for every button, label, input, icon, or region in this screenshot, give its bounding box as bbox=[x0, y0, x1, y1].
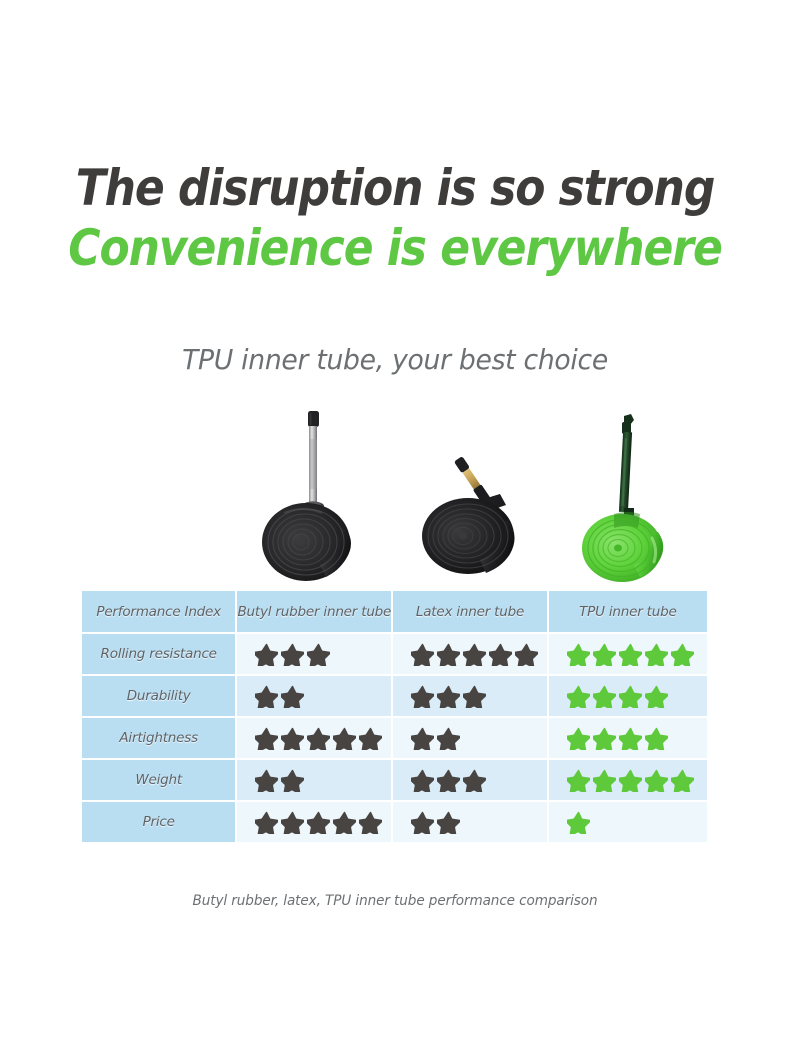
rating-cell-tpu bbox=[549, 676, 707, 718]
row-label: Price bbox=[82, 802, 237, 842]
headline-line-2: Convenience is everywhere bbox=[47, 218, 742, 278]
performance-comparison-table: Performance Index Butyl rubber inner tub… bbox=[82, 591, 707, 842]
rating-cell-tpu bbox=[549, 802, 707, 842]
rating-cell-latex bbox=[393, 676, 548, 718]
star-rating bbox=[567, 676, 707, 716]
page-subtitle: TPU inner tube, your best choice bbox=[20, 343, 771, 376]
page-title: The disruption is so strong Convenience … bbox=[47, 158, 742, 278]
star-rating bbox=[411, 634, 546, 674]
headline-line-1: The disruption is so strong bbox=[47, 158, 742, 218]
star-rating bbox=[255, 802, 391, 842]
rating-cell-butyl bbox=[237, 802, 393, 842]
rating-cell-tpu bbox=[549, 718, 707, 760]
table-row: Weight bbox=[82, 760, 707, 802]
row-label: Airtightness bbox=[82, 718, 237, 760]
star-rating bbox=[567, 634, 707, 674]
star-rating bbox=[567, 802, 707, 842]
star-rating bbox=[567, 760, 707, 800]
poster-page: The disruption is so strong Convenience … bbox=[0, 0, 790, 1046]
table-body: Rolling resistanceDurabilityAirtightness… bbox=[82, 634, 707, 842]
rating-cell-latex bbox=[393, 760, 548, 802]
rating-cell-butyl bbox=[237, 676, 393, 718]
butyl-rubber-inner-tube-photo bbox=[254, 409, 374, 588]
column-header-tpu: TPU inner tube bbox=[549, 591, 707, 634]
star-rating bbox=[411, 802, 546, 842]
rating-cell-butyl bbox=[237, 718, 393, 760]
star-rating bbox=[411, 760, 546, 800]
rating-cell-butyl bbox=[237, 634, 393, 676]
row-label: Weight bbox=[82, 760, 237, 802]
rating-cell-tpu bbox=[549, 760, 707, 802]
column-header-performance-index: Performance Index bbox=[82, 591, 237, 634]
table-row: Airtightness bbox=[82, 718, 707, 760]
column-header-latex: Latex inner tube bbox=[393, 591, 548, 634]
column-header-butyl-rubber: Butyl rubber inner tube bbox=[237, 591, 393, 634]
star-rating bbox=[255, 676, 391, 716]
row-label: Durability bbox=[82, 676, 237, 718]
latex-inner-tube-photo bbox=[412, 434, 542, 588]
product-image-row bbox=[82, 408, 707, 588]
rating-cell-butyl bbox=[237, 760, 393, 802]
rating-cell-tpu bbox=[549, 634, 707, 676]
star-rating bbox=[255, 718, 391, 758]
star-rating bbox=[411, 676, 546, 716]
rating-cell-latex bbox=[393, 634, 548, 676]
star-rating bbox=[567, 718, 707, 758]
rating-cell-latex bbox=[393, 718, 548, 760]
table-caption: Butyl rubber, latex, TPU inner tube perf… bbox=[12, 893, 778, 909]
row-label: Rolling resistance bbox=[82, 634, 237, 676]
star-rating bbox=[411, 718, 546, 758]
star-rating bbox=[255, 634, 391, 674]
star-rating bbox=[255, 760, 391, 800]
table-row: Durability bbox=[82, 676, 707, 718]
table-header-row: Performance Index Butyl rubber inner tub… bbox=[82, 591, 707, 634]
rating-cell-latex bbox=[393, 802, 548, 842]
tpu-inner-tube-photo bbox=[574, 412, 684, 588]
table-row: Rolling resistance bbox=[82, 634, 707, 676]
table-row: Price bbox=[82, 802, 707, 842]
